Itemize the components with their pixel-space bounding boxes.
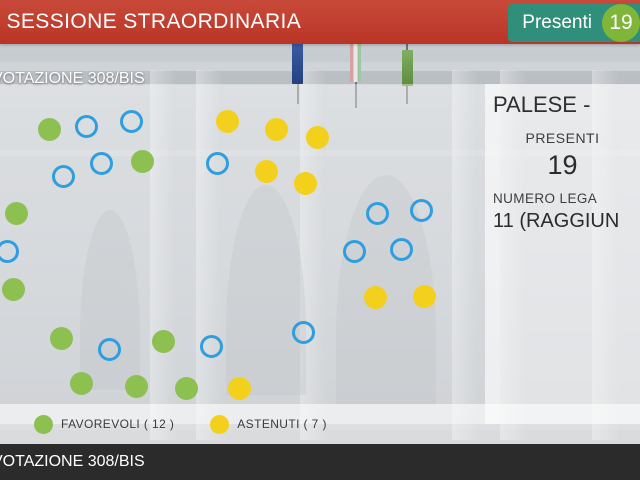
session-title: I SESSIONE STRAORDINARIA — [0, 10, 301, 34]
bottom-bar-text: VOTAZIONE 308/BIS — [0, 453, 145, 471]
seat-dot-empty — [206, 152, 229, 175]
voting-mode-label: PALESE - — [485, 92, 640, 118]
seat-dot-empty — [200, 335, 223, 358]
presenti-label: PRESENTI — [485, 130, 640, 146]
seat-dot-yellow — [216, 110, 239, 133]
presenti-badge-count: 19 — [602, 4, 640, 42]
seat-dot-empty — [292, 321, 315, 344]
legend: FAVOREVOLI ( 12 ) ASTENUTI ( 7 ) — [0, 410, 640, 438]
seat-dot-empty — [90, 152, 113, 175]
seat-dot-empty — [390, 238, 413, 261]
seat-dot-yellow — [255, 160, 278, 183]
seat-dot-green — [70, 372, 93, 395]
seat-dot-empty — [75, 115, 98, 138]
legend-label-astenuti: ASTENUTI ( 7 ) — [237, 417, 327, 431]
seat-dot-empty — [410, 199, 433, 222]
seat-dot-green — [50, 327, 73, 350]
legend-dot-yellow-icon — [210, 415, 229, 434]
seat-dot-yellow — [306, 126, 329, 149]
seat-dot-yellow — [294, 172, 317, 195]
seat-dot-yellow — [413, 285, 436, 308]
seat-dot-yellow — [364, 286, 387, 309]
seat-dot-green — [125, 375, 148, 398]
presenti-badge: Presenti 19 — [508, 4, 640, 42]
legend-dot-green-icon — [34, 415, 53, 434]
flag-regional — [402, 50, 413, 86]
seat-dot-green — [2, 278, 25, 301]
flag-eu — [292, 40, 303, 84]
seat-dot-yellow — [265, 118, 288, 141]
seat-dot-empty — [120, 110, 143, 133]
presenti-badge-label: Presenti — [522, 12, 592, 34]
votazione-subtitle: VOTAZIONE 308/BIS — [0, 70, 145, 88]
voting-display-screen: I SESSIONE STRAORDINARIA Presenti 19 VOT… — [0, 0, 640, 480]
seat-dot-green — [131, 150, 154, 173]
top-banner: I SESSIONE STRAORDINARIA Presenti 19 — [0, 0, 640, 44]
seat-dot-yellow — [228, 377, 251, 400]
seat-dot-empty — [52, 165, 75, 188]
legend-label-favorevoli: FAVOREVOLI ( 12 ) — [61, 417, 174, 431]
seat-dot-empty — [366, 202, 389, 225]
numero-legale-label: NUMERO LEGA — [485, 191, 640, 206]
bottom-bar: VOTAZIONE 308/BIS — [0, 444, 640, 480]
seat-dot-empty — [98, 338, 121, 361]
numero-legale-value: 11 (RAGGIUN — [485, 210, 640, 233]
seat-dot-green — [175, 377, 198, 400]
seat-dot-green — [5, 202, 28, 225]
seat-dot-empty — [343, 240, 366, 263]
presenti-value: 19 — [485, 150, 640, 181]
flag-italy — [350, 38, 361, 82]
seat-dot-green — [38, 118, 61, 141]
legend-item-favorevoli: FAVOREVOLI ( 12 ) — [34, 415, 174, 434]
vote-info-panel: PALESE - PRESENTI 19 NUMERO LEGA 11 (RAG… — [485, 92, 640, 233]
legend-item-astenuti: ASTENUTI ( 7 ) — [210, 415, 327, 434]
seat-dot-green — [152, 330, 175, 353]
